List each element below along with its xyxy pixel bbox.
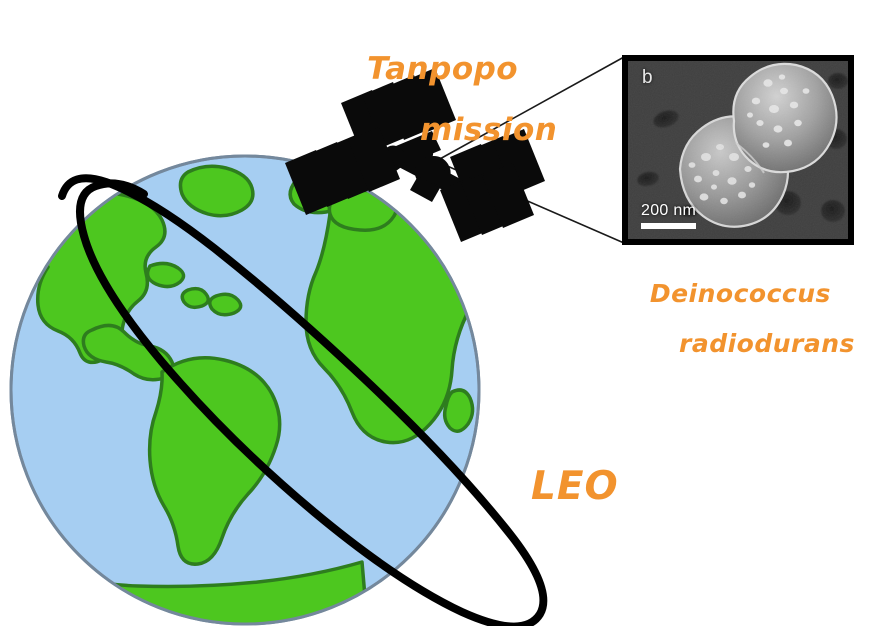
sem-inset-panel: b 200 nm xyxy=(622,55,854,245)
sem-scale-bar xyxy=(641,223,696,229)
label-deinococcus-line1: Deinococcus xyxy=(650,279,831,308)
label-deinococcus-radiodurans: Deinococcus radiodurans xyxy=(613,255,855,407)
sem-scale-bar-group: 200 nm xyxy=(641,202,696,229)
sem-panel-letter: b xyxy=(642,67,653,89)
label-tanpopo-line2: mission xyxy=(420,115,557,147)
label-leo: LEO xyxy=(531,467,619,507)
figure-root: b 200 nm Tanpopo mission Deinococcus rad… xyxy=(0,0,877,626)
label-tanpopo-mission: Tanpopo mission xyxy=(322,22,557,210)
sem-scale-bar-label: 200 nm xyxy=(641,202,696,220)
label-deinococcus-line2: radiodurans xyxy=(679,331,855,357)
label-tanpopo-line1: Tanpopo xyxy=(367,51,518,87)
